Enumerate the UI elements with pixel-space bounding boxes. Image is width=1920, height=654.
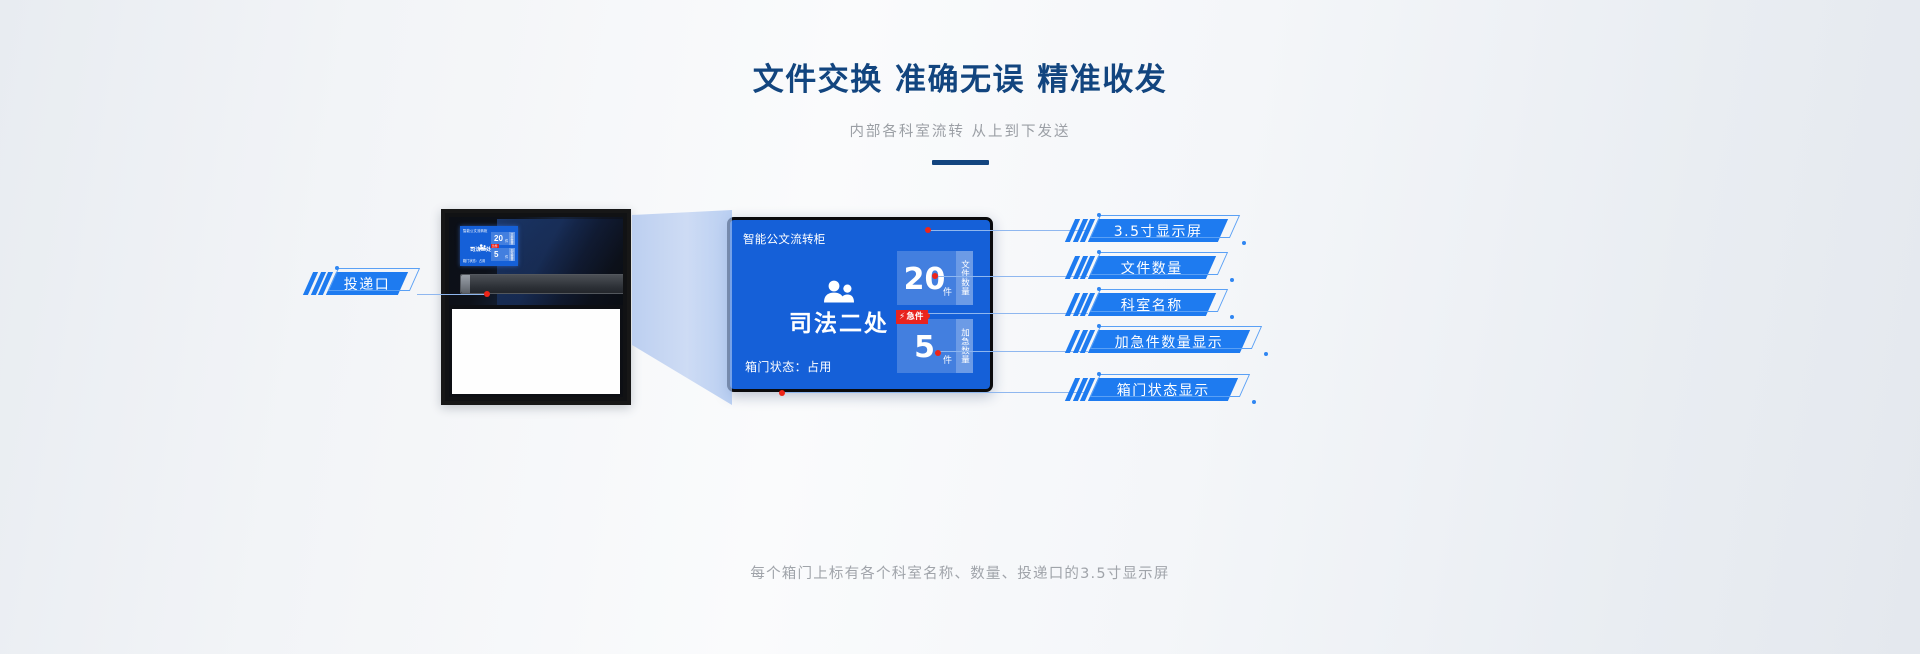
callout-body: 加急件数量显示 [1087,330,1249,353]
marker-dot-doorstatus [779,390,785,396]
door-status: 箱门状态：占用 [745,358,832,375]
callout-dot-end [1230,278,1234,282]
callout-display-screen[interactable]: 3.5寸显示屏 [1070,219,1223,242]
callout-label: 投递口 [343,274,390,294]
marker-dot-deptname [924,313,930,319]
delivery-slot-handle [461,275,470,293]
stat-file-value-wrap: 20 件 [897,251,956,305]
stat-file-unit: 件 [943,285,952,298]
cabinet-inner: 智能公文流转柜 司法二处 箱门状态：占用 20 件 文件数量 急件 [449,217,623,397]
users-icon [823,280,855,303]
callout-body: 文件数量 [1087,256,1215,279]
callout-dot-end [1242,241,1246,245]
mini-screen-title: 智能公文流转柜 [463,228,487,233]
mini-users-icon [478,237,487,243]
cabinet-mini-screen[interactable]: 智能公文流转柜 司法二处 箱门状态：占用 20 件 文件数量 急件 [460,226,518,266]
cabinet-bottom-section [452,309,620,394]
mini-screen-dept: 司法二处 [470,245,491,253]
callout-dot-end [1264,352,1268,356]
connector-deptname [927,313,1088,314]
marker-dot-urgentcount [935,350,941,356]
callout-label: 文件数量 [1121,258,1183,278]
connector-screen [928,230,1088,231]
callout-label: 箱门状态显示 [1116,380,1209,400]
cabinet-illustration: 智能公文流转柜 司法二处 箱门状态：占用 20 件 文件数量 急件 [441,209,631,405]
mini-urgent-label: 加急数量 [509,248,515,261]
marker-dot-screen [925,227,931,233]
callout-body: 箱门状态显示 [1087,378,1237,401]
zoom-beam [632,205,732,410]
mini-stat-urgent: 5 件 加急数量 [491,248,515,261]
callout-dot-start [1097,324,1101,328]
callout-dot-start [1097,372,1101,376]
mini-file-label: 文件数量 [509,232,515,245]
callout-label: 3.5寸显示屏 [1113,221,1202,241]
mini-urgent-count: 5 [494,249,498,261]
mini-urgent-unit: 件 [505,254,508,259]
callout-file-count[interactable]: 文件数量 [1070,256,1211,279]
connector-left-slot [417,294,487,295]
callout-dept-name[interactable]: 科室名称 [1070,293,1211,316]
callout-delivery-slot[interactable]: 投递口 [308,272,403,295]
callout-dot-start [1097,250,1101,254]
callout-body: 3.5寸显示屏 [1087,219,1227,242]
stat-urgent-value-wrap: 5 件 [897,319,956,373]
page-subtitle: 内部各科室流转 从上到下发送 [0,120,1920,141]
mini-screen-status: 箱门状态：占用 [463,258,485,263]
callout-dot-start [1097,287,1101,291]
callout-body: 科室名称 [1087,293,1215,316]
header-divider [932,160,989,165]
stat-urgent-number: 5 [914,333,935,363]
marker-dot-filecount [932,273,938,279]
callout-dot-start [1097,213,1101,217]
stat-file-label: 文件数量 [956,251,973,305]
callout-dot-end [1230,315,1234,319]
display-panel[interactable]: 智能公文流转柜 司法二处 箱门状态：占用 20 件 文件数量 ⚡ 急件 [727,217,993,392]
header: 文件交换 准确无误 精准收发 内部各科室流转 从上到下发送 [0,62,1920,165]
callout-door-status[interactable]: 箱门状态显示 [1070,378,1233,401]
callout-body: 投递口 [325,272,407,295]
callout-label: 加急件数量显示 [1114,332,1223,352]
stage: 文件交换 准确无误 精准收发 内部各科室流转 从上到下发送 [0,0,1920,654]
marker-dot-slot [484,291,490,297]
page-title: 文件交换 准确无误 精准收发 [0,62,1920,99]
footer-caption: 每个箱门上标有各个科室名称、数量、投递口的3.5寸显示屏 [0,562,1920,583]
panel-title: 智能公文流转柜 [743,231,826,247]
stat-file-number: 20 [904,265,946,295]
callout-dot-start [335,266,339,270]
callout-urgent-count[interactable]: 加急件数量显示 [1070,330,1245,353]
stat-urgent-count: ⚡ 急件 5 件 加急数量 [897,319,973,373]
mini-file-unit: 件 [505,238,508,243]
connector-doorstatus [782,392,1088,393]
stat-urgent-unit: 件 [943,353,952,366]
callout-dot-end [1252,400,1256,404]
stat-urgent-label: 加急数量 [956,319,973,373]
callout-label: 科室名称 [1121,295,1183,315]
